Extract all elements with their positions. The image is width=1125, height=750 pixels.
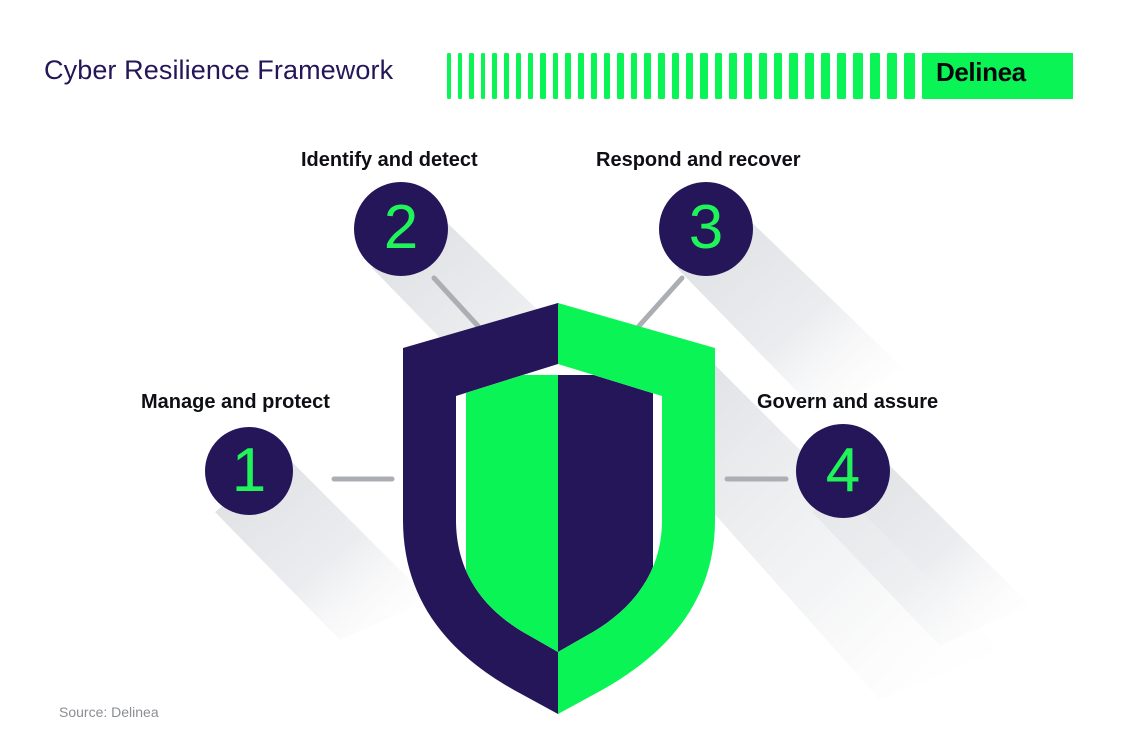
- node-number-2: 2: [361, 197, 441, 259]
- node-label-identify-and-detect: Identify and detect: [301, 149, 478, 172]
- shield-icon: [395, 295, 723, 725]
- infographic-canvas: Cyber Resilience Framework: [0, 0, 1125, 750]
- source-attribution: Source: Delinea: [59, 704, 159, 720]
- node-label-respond-and-recover: Respond and recover: [596, 149, 801, 172]
- node-number-1: 1: [209, 440, 289, 502]
- framework-diagram: [0, 0, 1125, 750]
- node-number-3: 3: [666, 197, 746, 259]
- node-label-govern-and-assure: Govern and assure: [757, 391, 938, 414]
- node-number-4: 4: [803, 440, 883, 502]
- node-label-manage-and-protect: Manage and protect: [141, 391, 330, 414]
- connector-line-3: [639, 278, 682, 326]
